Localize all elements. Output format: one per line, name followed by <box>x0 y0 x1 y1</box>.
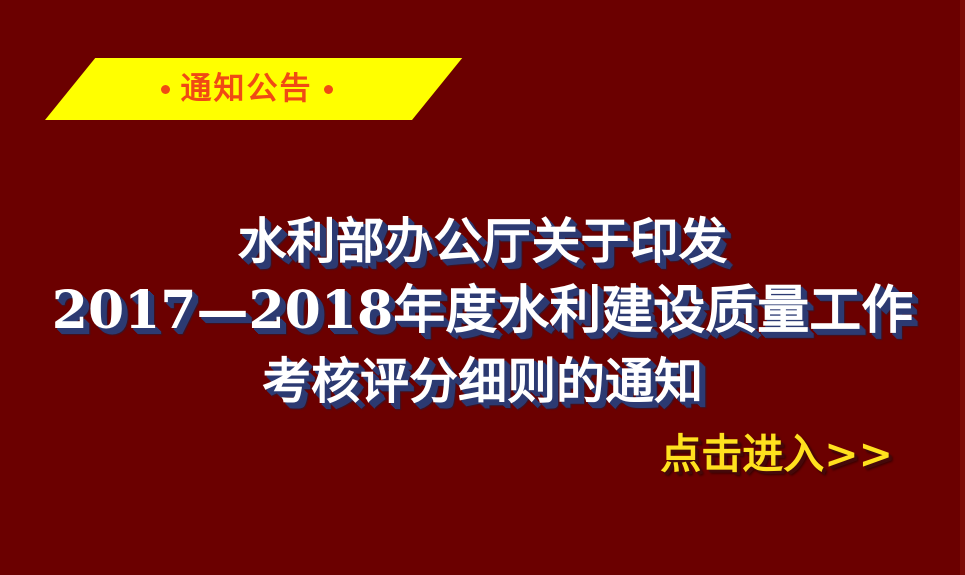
ribbon-label: 通知公告 <box>181 74 313 105</box>
ribbon-left-dot-icon <box>161 85 170 94</box>
ribbon-right-dot-icon <box>324 85 333 94</box>
page-title: 水利部办公厅关于印发 2017—2018年度水利建设质量工作 考核评分细则的通知 <box>0 206 965 416</box>
notice-ribbon[interactable]: 通知公告 <box>45 58 412 120</box>
headline-line-2: 2017—2018年度水利建设质量工作 <box>0 276 965 346</box>
headline-line-3: 考核评分细则的通知 <box>0 346 965 416</box>
announcement-banner: 通知公告 水利部办公厅关于印发 2017—2018年度水利建设质量工作 考核评分… <box>0 0 965 575</box>
enter-link[interactable]: 点击进入>> <box>660 432 893 477</box>
headline-line-1: 水利部办公厅关于印发 <box>0 206 965 276</box>
